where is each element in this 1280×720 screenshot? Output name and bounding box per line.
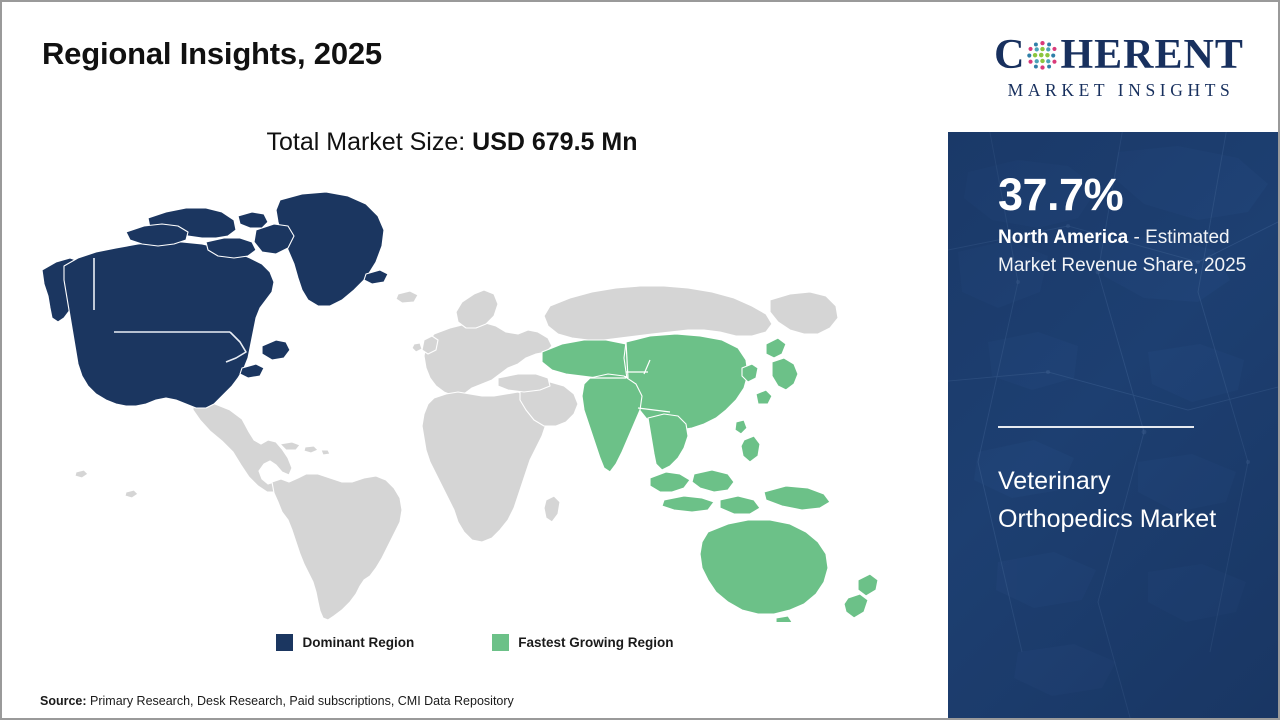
- total-market-size: Total Market Size: USD 679.5 Mn: [2, 128, 902, 157]
- legend-swatch-dominant: [276, 634, 293, 651]
- legend-swatch-fastest-growing: [492, 634, 509, 651]
- market-name: Veterinary Orthopedics Market: [998, 462, 1248, 538]
- legend-item-dominant: Dominant Region: [276, 634, 414, 651]
- logo-letters-herent: HERENT: [1060, 34, 1243, 76]
- total-market-size-label: Total Market Size:: [267, 128, 473, 156]
- revenue-share-description: North America - Estimated Market Revenue…: [998, 224, 1264, 279]
- brand-logo-area: C: [948, 2, 1280, 132]
- right-side-panel: C: [948, 2, 1280, 718]
- legend-label-fastest-growing: Fastest Growing Region: [518, 635, 673, 650]
- logo-letter-c: C: [994, 34, 1025, 76]
- legend-item-fastest-growing: Fastest Growing Region: [492, 634, 673, 651]
- page-title: Regional Insights, 2025: [42, 36, 382, 72]
- revenue-share-region: North America: [998, 227, 1128, 248]
- brand-logo-wordmark: C: [969, 34, 1269, 76]
- revenue-share-value: 37.7%: [998, 172, 1123, 217]
- stat-panel: 37.7% North America - Estimated Market R…: [948, 132, 1280, 718]
- total-market-size-value: USD 679.5 Mn: [472, 128, 637, 156]
- source-label: Source:: [40, 694, 87, 708]
- panel-divider-rule: [998, 426, 1194, 428]
- map-region-asia-pacific: [542, 334, 878, 622]
- brand-logo: C: [969, 34, 1269, 101]
- brand-logo-tagline: MARKET INSIGHTS: [969, 80, 1269, 101]
- world-map-container: [30, 182, 910, 622]
- source-line: Source: Primary Research, Desk Research,…: [40, 694, 514, 708]
- dotted-globe-icon: [1026, 39, 1059, 72]
- world-map: [30, 182, 910, 622]
- source-text: Primary Research, Desk Research, Paid su…: [87, 694, 514, 708]
- left-content-pane: Regional Insights, 2025 Total Market Siz…: [2, 2, 948, 718]
- map-legend: Dominant Region Fastest Growing Region: [2, 634, 948, 651]
- panel-content: 37.7% North America - Estimated Market R…: [998, 132, 1266, 718]
- legend-label-dominant: Dominant Region: [302, 635, 414, 650]
- infographic-slide: Regional Insights, 2025 Total Market Siz…: [0, 0, 1280, 720]
